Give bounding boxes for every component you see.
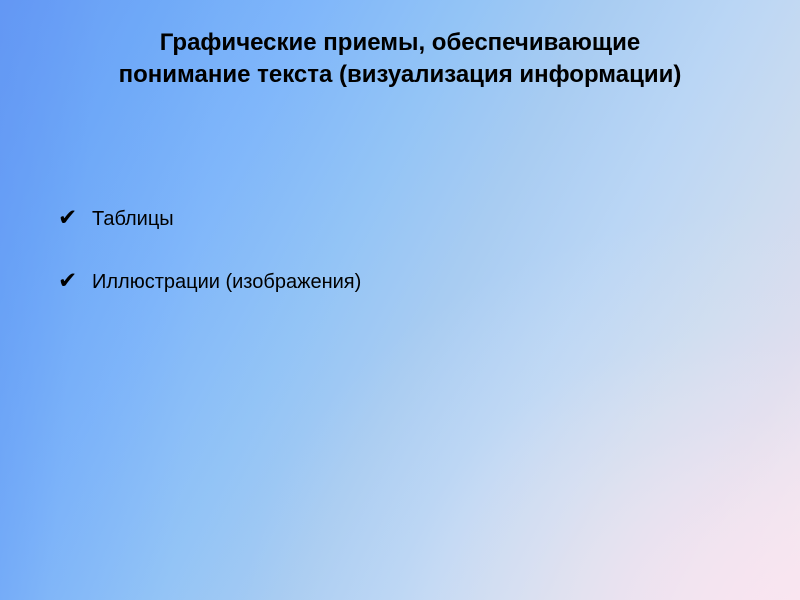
- slide-title-line-1: Графические приемы, обеспечивающие: [0, 27, 800, 59]
- list-item: ✔ Таблицы: [58, 203, 758, 234]
- list-item-label: Таблицы: [92, 204, 758, 234]
- slide-title: Графические приемы, обеспечивающие поним…: [0, 27, 800, 91]
- list-item-label: Иллюстрации (изображения): [92, 267, 758, 297]
- bullet-list: ✔ Таблицы ✔ Иллюстрации (изображения): [58, 203, 758, 297]
- list-item: ✔ Иллюстрации (изображения): [58, 266, 758, 297]
- check-mark-icon: ✔: [58, 266, 92, 296]
- presentation-slide: Графические приемы, обеспечивающие поним…: [0, 0, 800, 600]
- check-mark-icon: ✔: [58, 203, 92, 233]
- slide-title-line-2: понимание текста (визуализация информаци…: [0, 59, 800, 91]
- slide-content: Графические приемы, обеспечивающие поним…: [0, 0, 800, 600]
